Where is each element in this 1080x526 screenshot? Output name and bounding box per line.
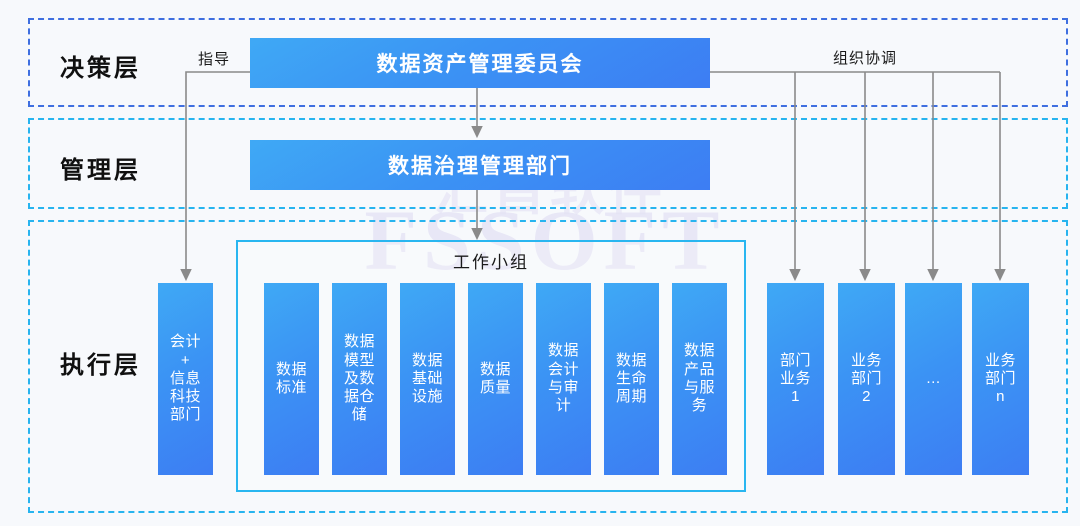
working-group-item-label: 数据生命周期 (616, 352, 647, 407)
working-group-item-label: 数据质量 (480, 361, 511, 398)
working-group-item[interactable]: 数据会计与审计 (536, 283, 591, 475)
node-accounting-it-label: 会计+信息科技部门 (170, 333, 201, 424)
edge-label-guidance: 指导 (198, 48, 230, 69)
org-chart-diagram: 汇首软件 FSSOFT 指导 组织协调 决策层 管理层 执行 (0, 0, 1080, 526)
layer-title-management: 管理层 (60, 150, 141, 185)
layer-title-execution: 执行层 (60, 345, 141, 380)
working-group-item[interactable]: 数据产品与服务 (672, 283, 727, 475)
business-unit-box[interactable]: … (905, 283, 962, 475)
working-group-item[interactable]: 数据模型及数据仓储 (332, 283, 387, 475)
business-unit-label: … (926, 370, 942, 388)
working-group-title: 工作小组 (236, 248, 746, 273)
business-unit-label: 业务部门n (985, 352, 1016, 407)
working-group-item-label: 数据模型及数据仓储 (344, 333, 375, 424)
business-unit-box[interactable]: 部门业务1 (767, 283, 824, 475)
node-data-asset-management-committee[interactable]: 数据资产管理委员会 (250, 38, 710, 88)
working-group-item-label: 数据标准 (276, 361, 307, 398)
working-group-item[interactable]: 数据生命周期 (604, 283, 659, 475)
business-unit-box[interactable]: 业务部门n (972, 283, 1029, 475)
working-group-item[interactable]: 数据标准 (264, 283, 319, 475)
working-group-item-label: 数据产品与服务 (684, 342, 715, 415)
business-unit-label: 部门业务1 (780, 352, 811, 407)
business-unit-box[interactable]: 业务部门2 (838, 283, 895, 475)
node-accounting-it-department[interactable]: 会计+信息科技部门 (158, 283, 213, 475)
node-data-governance-department[interactable]: 数据治理管理部门 (250, 140, 710, 190)
edge-label-coordination: 组织协调 (833, 47, 897, 68)
layer-title-decision: 决策层 (60, 48, 141, 83)
working-group-item[interactable]: 数据基础设施 (400, 283, 455, 475)
working-group-item[interactable]: 数据质量 (468, 283, 523, 475)
working-group-item-label: 数据会计与审计 (548, 342, 579, 415)
working-group-item-label: 数据基础设施 (412, 352, 443, 407)
business-unit-label: 业务部门2 (851, 352, 882, 407)
